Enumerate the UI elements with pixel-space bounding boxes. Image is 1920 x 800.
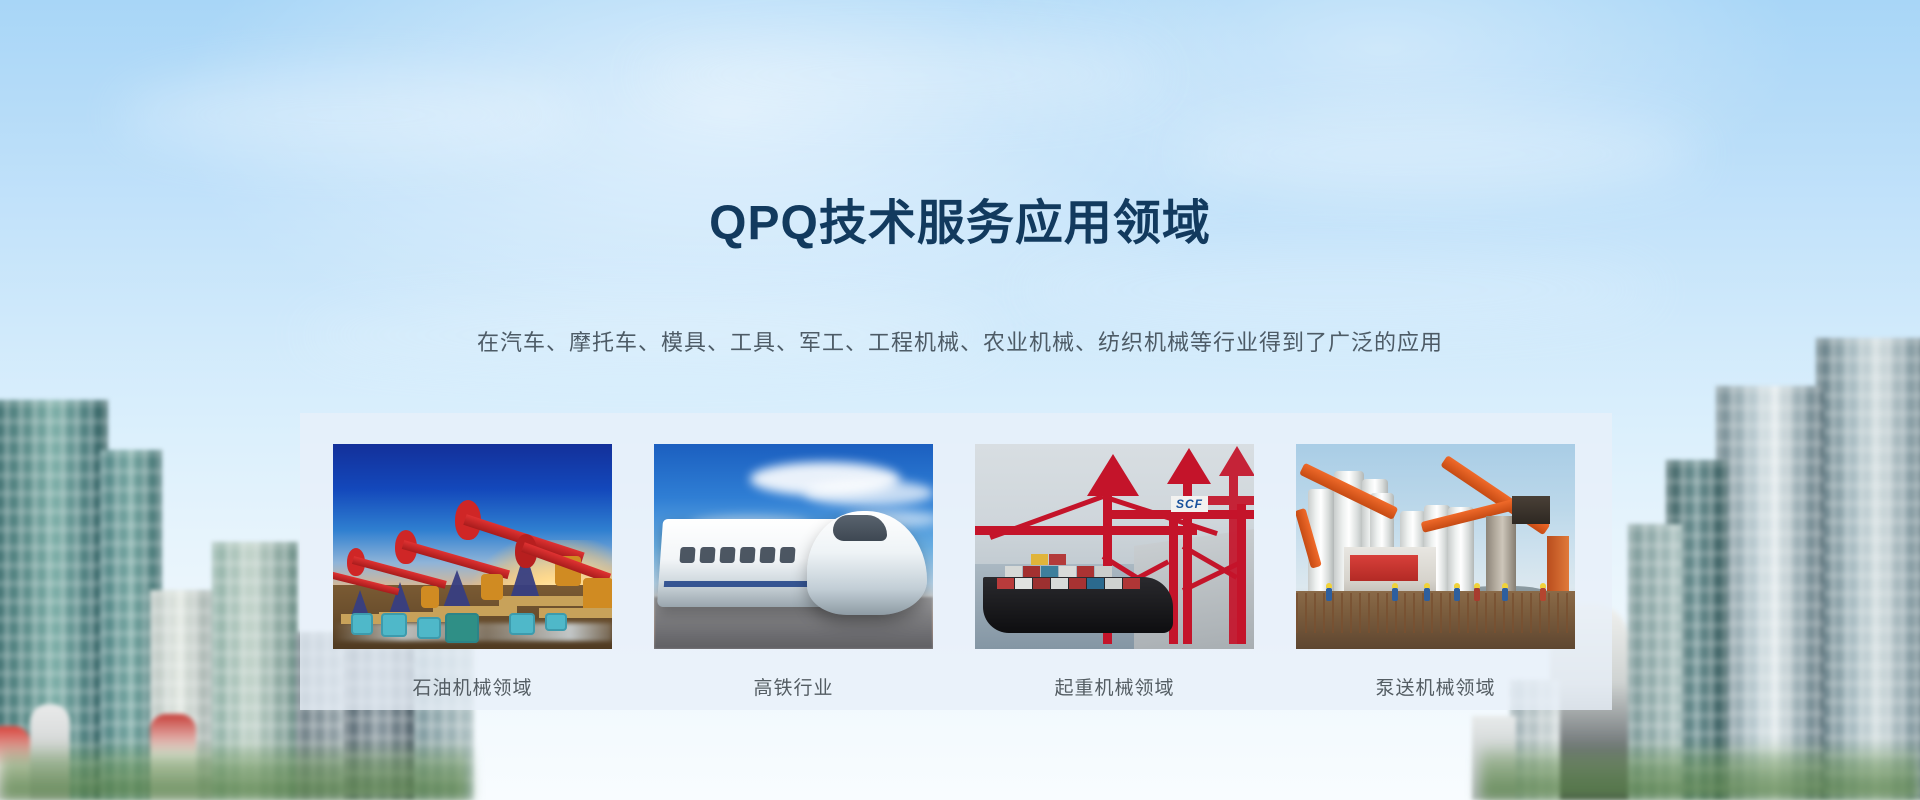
card-caption: 起重机械领域	[975, 673, 1254, 700]
scf-logo-icon: SCF	[1171, 496, 1208, 512]
high-speed-train-image[interactable]	[654, 444, 933, 649]
page-title: QPQ技术服务应用领域	[0, 196, 1920, 251]
cloud-shape	[120, 70, 580, 160]
application-card-train[interactable]: 高铁行业	[654, 444, 933, 700]
building	[1816, 338, 1920, 800]
foliage	[1480, 742, 1920, 800]
port-cranes-image[interactable]: SCF	[975, 444, 1254, 649]
building	[1716, 386, 1824, 800]
applications-panel: 石油机械领域 高铁行业	[300, 413, 1612, 710]
cloud-shape	[640, 40, 1160, 110]
cloud-shape	[1020, 250, 1660, 330]
foliage	[0, 742, 470, 800]
application-card-pump[interactable]: 泵送机械领域	[1296, 444, 1575, 700]
page-subtitle: 在汽车、摩托车、模具、工具、军工、工程机械、农业机械、纺织机械等行业得到了广泛的…	[0, 325, 1920, 357]
card-caption: 石油机械领域	[333, 673, 612, 700]
concrete-pumping-image[interactable]	[1296, 444, 1575, 649]
card-caption: 泵送机械领域	[1296, 673, 1575, 700]
application-card-crane[interactable]: SCF 起重机械领域	[975, 444, 1254, 700]
cloud-shape	[1180, 110, 1700, 198]
card-caption: 高铁行业	[654, 673, 933, 700]
oil-pumpjacks-image[interactable]	[333, 444, 612, 649]
application-card-oil[interactable]: 石油机械领域	[333, 444, 612, 700]
application-card-list: 石油机械领域 高铁行业	[333, 444, 1575, 700]
